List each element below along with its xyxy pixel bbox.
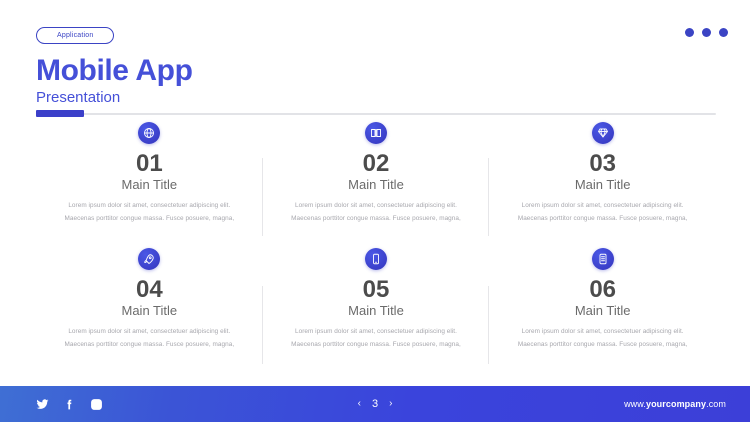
feature-card[interactable]: 05 Main Title Lorem ipsum dolor sit amet… bbox=[263, 248, 490, 374]
card-number: 01 bbox=[50, 151, 249, 176]
dot-icon bbox=[702, 28, 711, 37]
feature-grid: 01 Main Title Lorem ipsum dolor sit amet… bbox=[36, 122, 716, 374]
progress-track bbox=[36, 113, 716, 115]
card-title: Main Title bbox=[50, 177, 249, 193]
card-title: Main Title bbox=[277, 177, 476, 193]
page-number: 3 bbox=[372, 399, 378, 410]
card-number: 06 bbox=[503, 277, 702, 302]
card-number: 05 bbox=[277, 277, 476, 302]
card-number: 02 bbox=[277, 151, 476, 176]
slide-header: Application Mobile App Presentation bbox=[36, 24, 730, 106]
list-document-icon bbox=[592, 248, 614, 270]
feature-card[interactable]: 03 Main Title Lorem ipsum dolor sit amet… bbox=[489, 122, 716, 248]
category-badge: Application bbox=[36, 27, 114, 44]
card-description: Lorem ipsum dolor sit amet, consectetuer… bbox=[287, 326, 465, 352]
card-title: Main Title bbox=[503, 303, 702, 319]
card-title: Main Title bbox=[277, 303, 476, 319]
card-description: Lorem ipsum dolor sit amet, consectetuer… bbox=[287, 200, 465, 226]
diamond-icon bbox=[592, 122, 614, 144]
page-subtitle: Presentation bbox=[36, 90, 730, 107]
next-page-button[interactable]: › bbox=[389, 399, 392, 409]
progress-bar bbox=[36, 110, 716, 117]
card-description: Lorem ipsum dolor sit amet, consectetuer… bbox=[60, 326, 238, 352]
progress-fill bbox=[36, 110, 84, 117]
feature-card[interactable]: 06 Main Title Lorem ipsum dolor sit amet… bbox=[489, 248, 716, 374]
rocket-icon bbox=[138, 248, 160, 270]
mobile-phone-icon bbox=[365, 248, 387, 270]
slide: Application Mobile App Presentation 01 M… bbox=[0, 0, 750, 422]
card-description: Lorem ipsum dolor sit amet, consectetuer… bbox=[514, 326, 692, 352]
website-suffix: .com bbox=[706, 399, 726, 409]
page-title: Mobile App bbox=[36, 55, 730, 87]
card-title: Main Title bbox=[50, 303, 249, 319]
prev-page-button[interactable]: ‹ bbox=[358, 399, 361, 409]
card-description: Lorem ipsum dolor sit amet, consectetuer… bbox=[60, 200, 238, 226]
website-url[interactable]: www.yourcompany.com bbox=[624, 399, 726, 409]
feature-card[interactable]: 04 Main Title Lorem ipsum dolor sit amet… bbox=[36, 248, 263, 374]
feature-card[interactable]: 01 Main Title Lorem ipsum dolor sit amet… bbox=[36, 122, 263, 248]
card-number: 04 bbox=[50, 277, 249, 302]
card-number: 03 bbox=[503, 151, 702, 176]
card-description: Lorem ipsum dolor sit amet, consectetuer… bbox=[514, 200, 692, 226]
dot-icon bbox=[685, 28, 694, 37]
slide-footer: ‹ 3 › www.yourcompany.com bbox=[0, 386, 750, 422]
card-title: Main Title bbox=[503, 177, 702, 193]
feature-card[interactable]: 02 Main Title Lorem ipsum dolor sit amet… bbox=[263, 122, 490, 248]
book-icon bbox=[365, 122, 387, 144]
decorative-dots bbox=[685, 28, 728, 37]
globe-icon bbox=[138, 122, 160, 144]
website-prefix: www. bbox=[624, 399, 646, 409]
dot-icon bbox=[719, 28, 728, 37]
website-name: yourcompany bbox=[646, 399, 706, 409]
